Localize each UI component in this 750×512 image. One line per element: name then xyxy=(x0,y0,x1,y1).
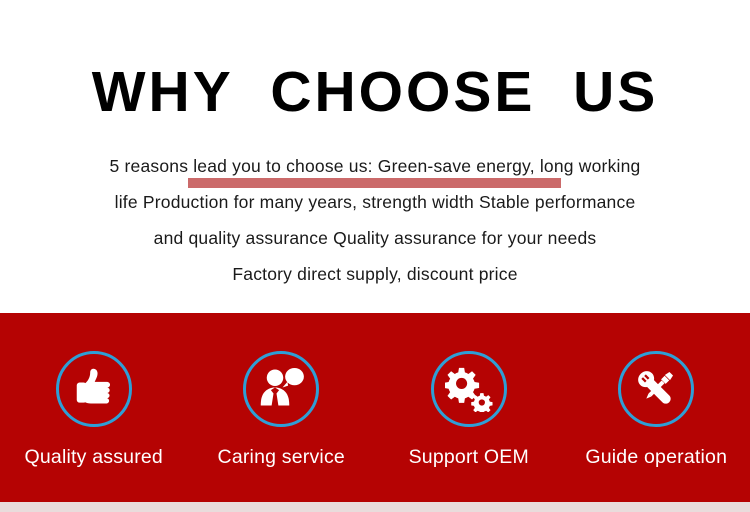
feature-banner: Quality assured Caring service xyxy=(0,313,750,502)
feature-label: Guide operation xyxy=(585,445,727,469)
feature-item-support-oem[interactable]: Support OEM xyxy=(383,351,555,469)
intro-line: Factory direct supply, discount price xyxy=(0,256,750,292)
wrench-screwdriver-icon xyxy=(633,366,679,412)
icon-circle xyxy=(431,351,507,427)
page-title: WHY CHOOSE US xyxy=(92,60,659,124)
bottom-strip xyxy=(0,502,750,512)
feature-item-caring-service[interactable]: Caring service xyxy=(195,351,367,469)
icon-circle xyxy=(243,351,319,427)
icon-circle xyxy=(618,351,694,427)
feature-item-guide-operation[interactable]: Guide operation xyxy=(570,351,742,469)
title-underline xyxy=(188,178,561,188)
thumbs-up-icon xyxy=(71,366,117,412)
intro-line: life Production for many years, strength… xyxy=(0,184,750,220)
gears-icon xyxy=(445,366,493,412)
feature-item-quality-assured[interactable]: Quality assured xyxy=(8,351,180,469)
intro-line: and quality assurance Quality assurance … xyxy=(0,220,750,256)
feature-label: Caring service xyxy=(218,445,345,469)
page-title-wrap: WHY CHOOSE US xyxy=(0,60,750,132)
promo-page: WHY CHOOSE US 5 reasons lead you to choo… xyxy=(0,0,750,512)
icon-circle xyxy=(56,351,132,427)
feature-label: Support OEM xyxy=(409,445,529,469)
feature-list: Quality assured Caring service xyxy=(0,313,750,502)
intro-copy: 5 reasons lead you to choose us: Green-s… xyxy=(0,148,750,292)
feature-label: Quality assured xyxy=(25,445,163,469)
intro-section: WHY CHOOSE US 5 reasons lead you to choo… xyxy=(0,0,750,313)
customer-service-icon xyxy=(257,366,305,412)
